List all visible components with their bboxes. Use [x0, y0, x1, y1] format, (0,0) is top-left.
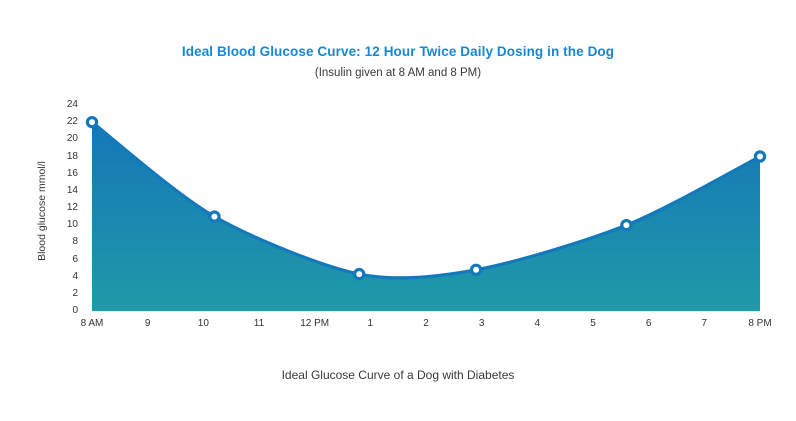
x-tick-label: 9 — [145, 318, 151, 330]
chart-title: Ideal Blood Glucose Curve: 12 Hour Twice… — [0, 44, 796, 59]
x-tick-label: 6 — [646, 318, 652, 330]
x-tick-label: 5 — [590, 318, 596, 330]
chart-caption: Ideal Glucose Curve of a Dog with Diabet… — [0, 368, 796, 382]
y-tick-label: 8 — [72, 237, 78, 247]
x-tick-label: 11 — [254, 318, 264, 330]
x-tick-label: 8 PM — [748, 318, 771, 330]
x-tick-label: 8 AM — [81, 318, 104, 330]
y-tick-label: 6 — [72, 255, 78, 265]
y-tick-label: 12 — [67, 203, 78, 213]
glucose-curve-chart: Ideal Blood Glucose Curve: 12 Hour Twice… — [0, 0, 796, 421]
y-tick-label: 20 — [67, 134, 78, 144]
data-point-marker-center — [623, 222, 629, 228]
y-tick-label: 24 — [67, 100, 78, 110]
y-tick-label: 16 — [67, 169, 78, 179]
plot-area — [92, 105, 760, 311]
y-tick-label: 18 — [67, 152, 78, 162]
data-point-marker-center — [757, 154, 763, 160]
x-tick-label: 4 — [535, 318, 541, 330]
x-tick-label: 7 — [702, 318, 708, 330]
data-point-marker-center — [473, 267, 479, 273]
y-tick-label: 0 — [72, 306, 78, 316]
x-tick-label: 1 — [368, 318, 374, 330]
data-point-marker-center — [89, 119, 95, 125]
x-tick-label: 10 — [198, 318, 209, 330]
data-point-marker-center — [356, 271, 362, 277]
x-tick-label: 2 — [423, 318, 429, 330]
y-tick-label: 22 — [67, 117, 78, 127]
plot-svg — [92, 105, 760, 311]
chart-subtitle: (Insulin given at 8 AM and 8 PM) — [0, 67, 796, 79]
y-tick-label: 10 — [67, 220, 78, 230]
x-tick-label: 3 — [479, 318, 485, 330]
y-tick-label: 14 — [67, 186, 78, 196]
y-tick-label: 2 — [72, 289, 78, 299]
y-axis-tick-labels: 242220181614121086420 — [0, 105, 86, 311]
y-tick-label: 4 — [72, 272, 78, 282]
area-fill — [92, 122, 760, 311]
x-axis-tick-labels: 8 AM9101112 PM12345678 PM — [0, 318, 796, 334]
x-tick-label: 12 PM — [300, 318, 329, 330]
data-point-marker-center — [211, 214, 217, 220]
